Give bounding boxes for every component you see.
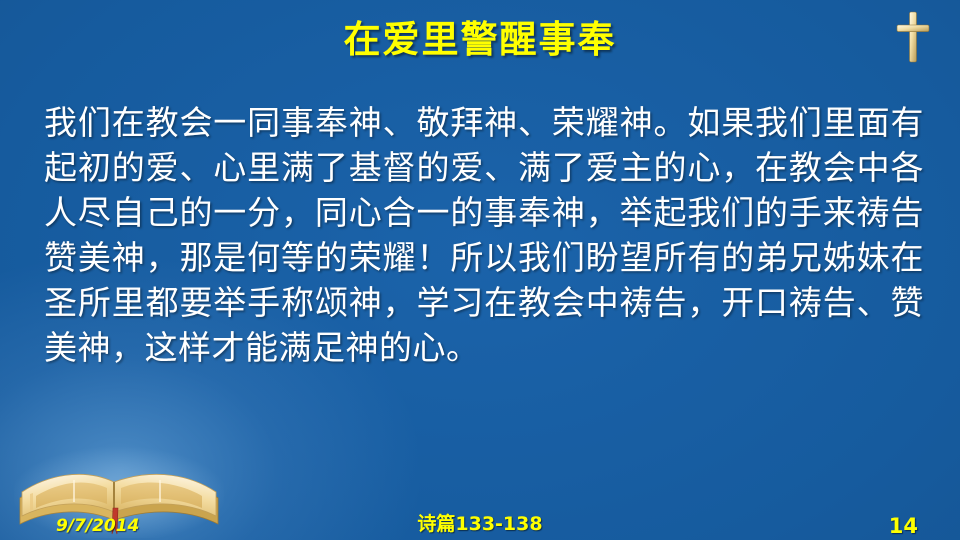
slide-title: 在爱里警醒事奉 — [0, 18, 960, 62]
footer-scripture-reference: 诗篇133-138 — [0, 509, 960, 536]
footer-page-number: 14 — [889, 514, 918, 538]
presentation-slide: 在爱里警醒事奉 我们在教会一同事奉神、敬拜神、荣耀神。如果我们里面有起初的爱、心… — [0, 0, 960, 540]
slide-body-text: 我们在教会一同事奉神、敬拜神、荣耀神。如果我们里面有起初的爱、心里满了基督的爱、… — [44, 100, 924, 370]
body-paragraph: 我们在教会一同事奉神、敬拜神、荣耀神。如果我们里面有起初的爱、心里满了基督的爱、… — [44, 100, 924, 370]
